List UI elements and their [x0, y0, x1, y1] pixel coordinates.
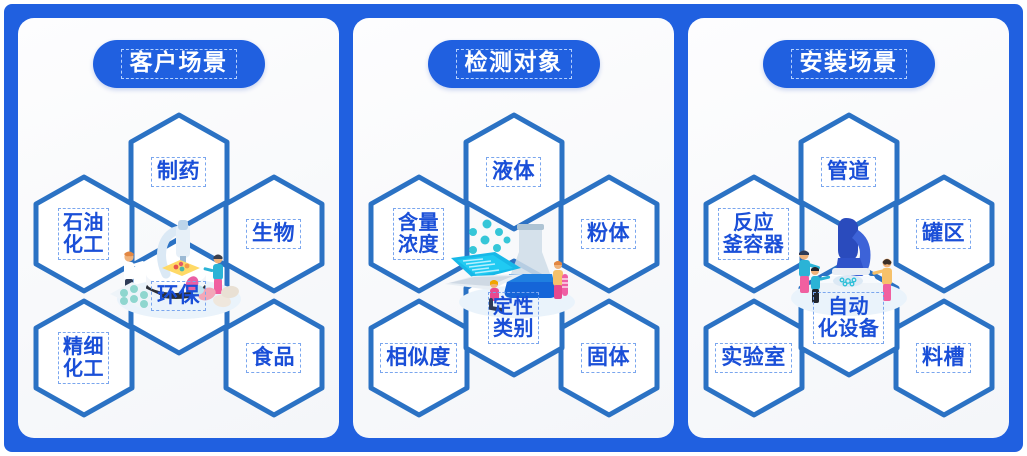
panel-installation-scenarios: 安装场景	[688, 18, 1009, 438]
hexagon-label: 罐区	[916, 219, 971, 249]
hexagon-label: 相似度	[380, 343, 457, 373]
hexagon-label: 反应 釜容器	[718, 208, 790, 260]
hexagon-label: 含量 浓度	[393, 208, 444, 260]
hexagon-label: 生物	[246, 219, 301, 249]
hexagon-cluster-2: 含量 浓度 液体 粉体 相似度 固体	[353, 110, 674, 420]
panel-title-dashed-box-1: 客户场景	[121, 49, 237, 79]
panel-title-2: 检测对象	[465, 50, 563, 76]
panel-title-dashed-box-2: 检测对象	[456, 49, 572, 79]
hexagon-label: 料槽	[916, 343, 971, 373]
panel-title-pill-3[interactable]: 安装场景	[763, 40, 935, 88]
panel-title-pill-2[interactable]: 检测对象	[428, 40, 600, 88]
hexagon-cluster-3: 反应 釜容器 管道 罐区 实验室 料槽	[688, 110, 1009, 420]
hexagon-cluster-1: 石油 化工 制药 生物 精细 化工 食品	[18, 110, 339, 420]
hexagon-label: 精细 化工	[58, 332, 109, 384]
infographic-root: 客户场景	[0, 0, 1027, 456]
hexagon-label: 液体	[486, 157, 541, 187]
hexagon-label: 粉体	[581, 219, 636, 249]
hexagon-label: 管道	[821, 157, 876, 187]
panel-customer-scenarios: 客户场景	[18, 18, 339, 438]
panel-title-pill-1[interactable]: 客户场景	[93, 40, 265, 88]
panel-detection-targets: 检测对象	[353, 18, 674, 438]
hexagon-label: 石油 化工	[58, 208, 109, 260]
panel-row: 客户场景	[0, 0, 1027, 456]
panel-title-dashed-box-3: 安装场景	[791, 49, 907, 79]
hexagon-label: 环保	[151, 281, 206, 311]
hexagon-label: 自动 化设备	[813, 292, 885, 344]
hexagon-label: 固体	[581, 343, 636, 373]
hexagon-label: 定性 类别	[488, 292, 539, 344]
hexagon-label: 制药	[151, 157, 206, 187]
panel-title-3: 安装场景	[800, 50, 898, 76]
hexagon-label: 实验室	[715, 343, 792, 373]
hexagon-label: 食品	[246, 343, 301, 373]
panel-title-1: 客户场景	[130, 50, 228, 76]
